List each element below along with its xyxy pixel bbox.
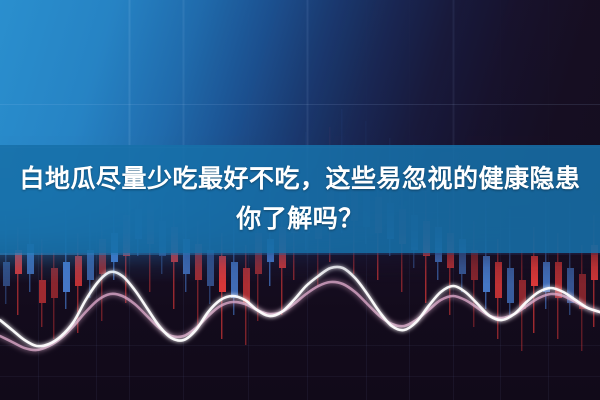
wash-rule [0,104,600,105]
headline-line-1: 白地瓜尽量少吃最好不吃，这些易忽视的健康隐患 [19,159,580,199]
poster-root: 白地瓜尽量少吃最好不吃，这些易忽视的健康隐患 你了解吗？ [0,0,600,400]
headline-banner-edge [0,253,600,255]
headline-banner: 白地瓜尽量少吃最好不吃，这些易忽视的健康隐患 你了解吗？ [0,145,600,253]
headline-line-2: 你了解吗？ [236,199,364,239]
